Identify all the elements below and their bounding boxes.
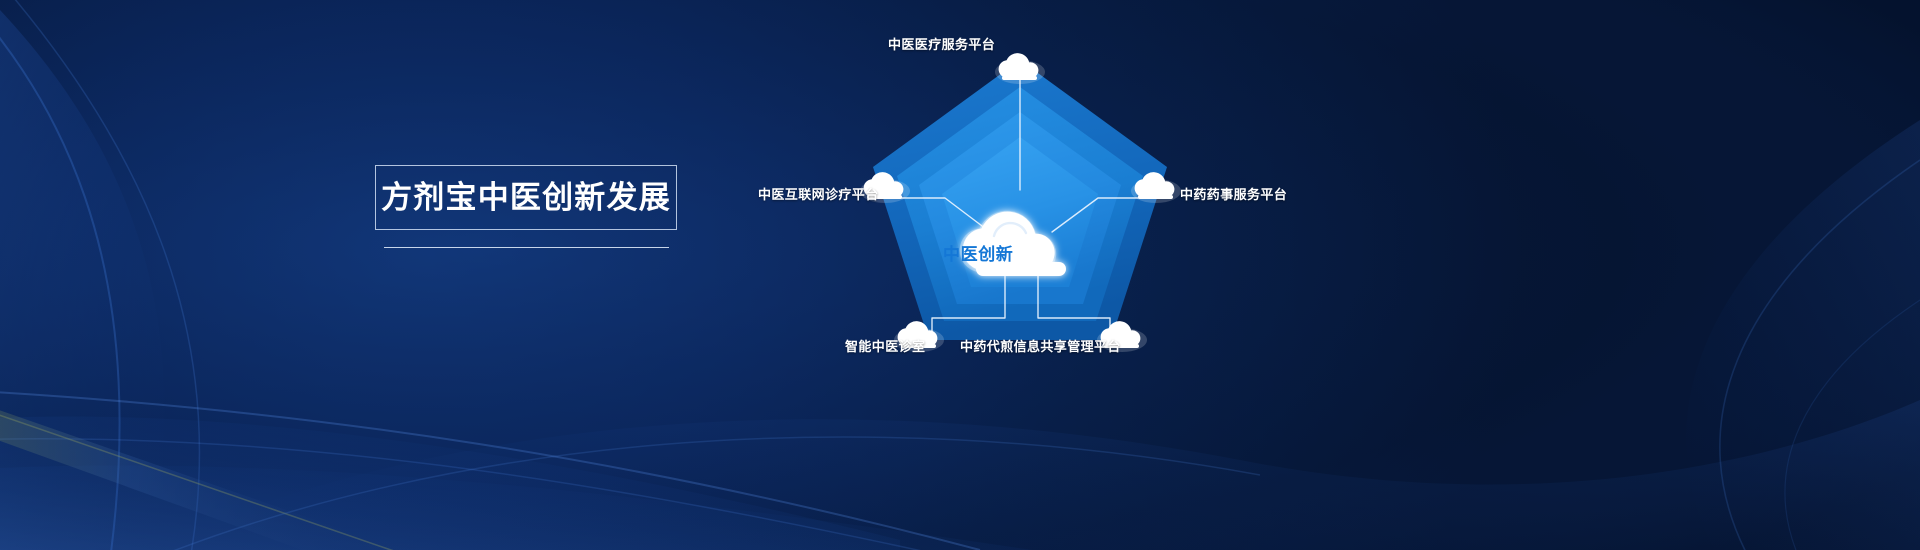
hero-title-block: 方剂宝中医创新发展: [375, 165, 677, 248]
pentagon-graphic: [780, 40, 1260, 380]
cloud-icon-top: [995, 53, 1045, 84]
node-label-bottom-left: 智能中医诊室: [845, 336, 925, 355]
page-title: 方剂宝中医创新发展: [381, 182, 671, 213]
node-label-right: 中药药事服务平台: [1180, 184, 1287, 203]
title-underline: [384, 247, 669, 248]
hero-banner: 方剂宝中医创新发展: [0, 0, 1920, 550]
node-label-left: 中医互联网诊疗平台: [758, 184, 879, 203]
node-label-bottom-right: 中药代煎信息共享管理平台: [960, 336, 1121, 355]
hero-title-box: 方剂宝中医创新发展: [375, 165, 677, 230]
platform-pentagon-diagram: 中医医疗服务平台 中医互联网诊疗平台 中药药事服务平台 智能中医诊室 中药代煎信…: [780, 40, 1260, 380]
center-node-label: 中医创新: [943, 240, 1013, 265]
node-label-top: 中医医疗服务平台: [888, 34, 995, 53]
